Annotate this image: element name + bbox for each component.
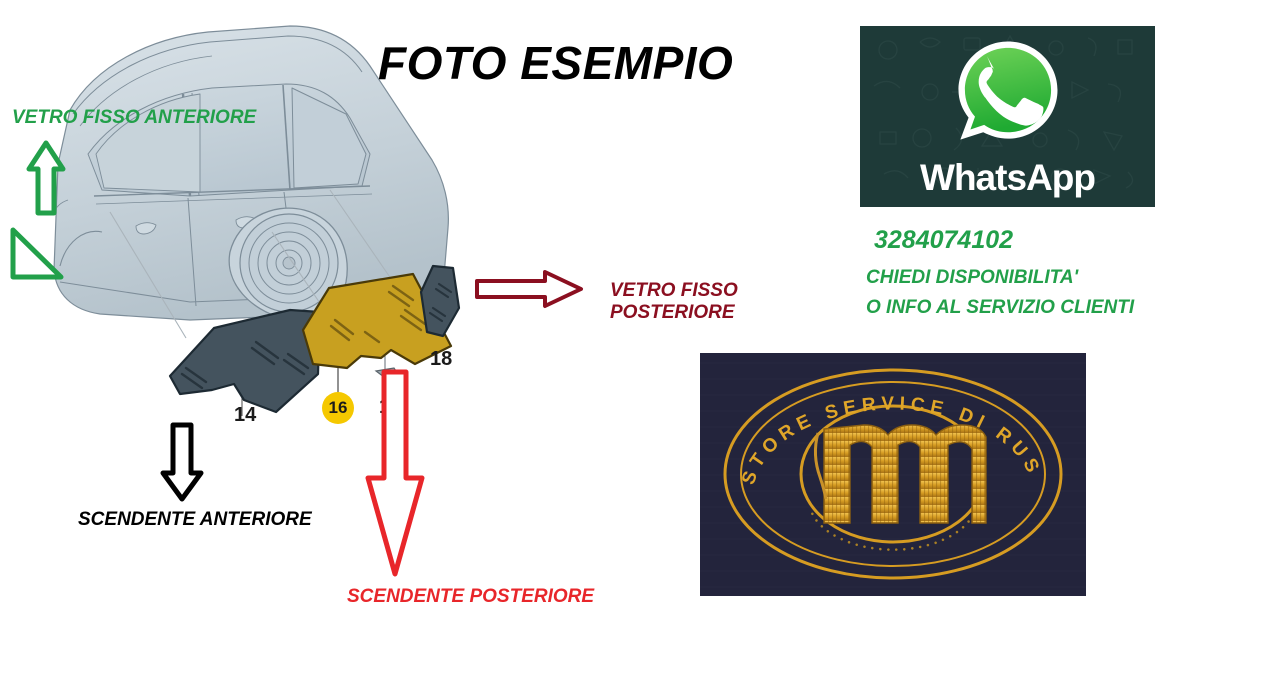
label-vetro-post-line1: VETRO FISSO (610, 280, 738, 301)
red-down-arrow-icon (362, 368, 428, 580)
green-triangle-icon (8, 225, 66, 283)
darkred-right-arrow-icon (473, 268, 585, 310)
whatsapp-banner[interactable]: WhatsApp (860, 26, 1155, 207)
shop-logo-photo: MRICAMBISTORE SERVICE DI RUSSO MARCO ● ●… (700, 353, 1086, 596)
availability-text: CHIEDI DISPONIBILITA' (866, 267, 1078, 289)
label-vetro-fisso-anteriore: VETRO FISSO ANTERIORE (12, 107, 256, 129)
page-title: FOTO ESEMPIO (378, 36, 733, 90)
part-18-number: 18 (430, 348, 452, 371)
green-up-arrow-icon (25, 139, 67, 217)
phone-number[interactable]: 3284074102 (874, 226, 1013, 255)
part-16-badge: 16 (322, 392, 354, 424)
whatsapp-logo-icon (953, 36, 1063, 146)
whatsapp-wordmark: WhatsApp (860, 157, 1155, 199)
black-down-arrow-icon (158, 421, 206, 503)
customer-service-text: O INFO AL SERVIZIO CLIENTI (866, 297, 1134, 319)
shop-logo-emblem: MRICAMBISTORE SERVICE DI RUSSO MARCO ● ●… (700, 353, 1086, 596)
label-vetro-fisso-posteriore: VETRO FISSOPOSTERIORE (610, 280, 738, 324)
part-14-number: 14 (234, 404, 256, 427)
label-scendente-posteriore: SCENDENTE POSTERIORE (347, 586, 594, 608)
label-vetro-post-line2: POSTERIORE (610, 302, 735, 323)
poster-canvas: 14 16 17 18 (0, 0, 1264, 678)
label-scendente-anteriore: SCENDENTE ANTERIORE (78, 509, 312, 531)
part-18-glass (413, 262, 465, 344)
